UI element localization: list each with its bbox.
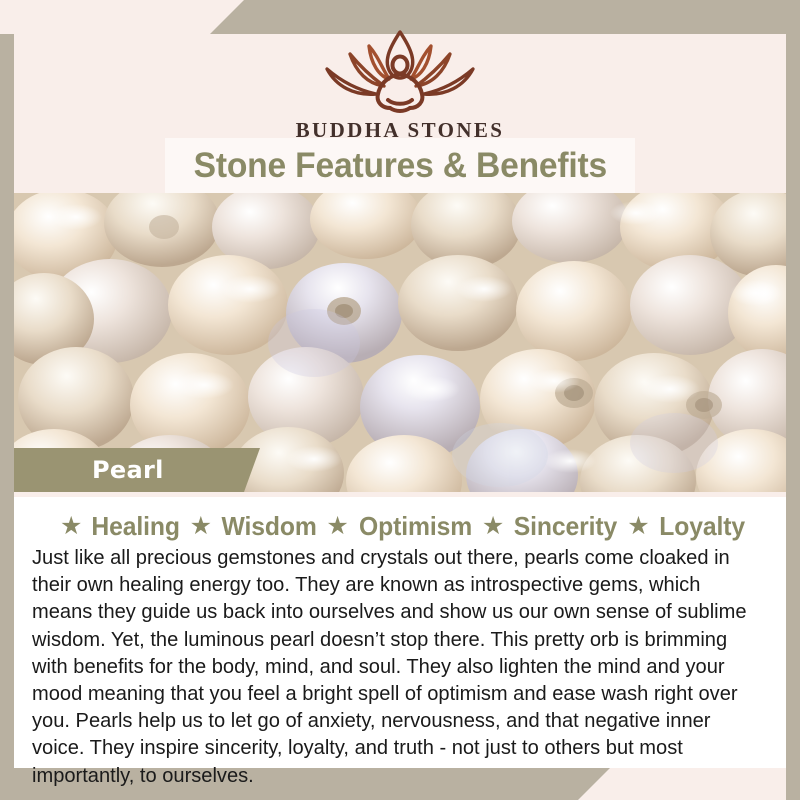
content-panel: ★ Healing ★ Wisdom ★ Optimism ★ Sincerit… — [14, 497, 786, 768]
keyword-list: ★ Healing ★ Wisdom ★ Optimism ★ Sincerit… — [14, 497, 786, 542]
star-icon: ★ — [190, 514, 212, 539]
keyword-healing: Healing — [92, 511, 181, 542]
keyword-wisdom: Wisdom — [222, 511, 317, 542]
lotus-meditation-logo-icon — [310, 24, 490, 116]
pearl-photo-illustration — [14, 193, 786, 492]
keyword-optimism: Optimism — [359, 511, 472, 542]
star-icon: ★ — [482, 514, 504, 539]
page-title: Stone Features & Benefits — [193, 146, 606, 186]
stone-name-tab: Pearl — [14, 448, 260, 492]
stone-name: Pearl — [92, 456, 164, 484]
star-icon: ★ — [627, 514, 649, 539]
poster-root: BUDDHA STONES Stone Features & Benefits — [0, 0, 800, 800]
star-icon: ★ — [60, 514, 82, 539]
stone-photo — [14, 193, 786, 492]
keyword-sincerity: Sincerity — [514, 511, 617, 542]
stone-description: Just like all precious gemstones and cry… — [32, 545, 757, 790]
star-icon: ★ — [326, 514, 348, 539]
keyword-loyalty: Loyalty — [659, 511, 745, 542]
title-banner: Stone Features & Benefits — [165, 138, 635, 193]
brand-logo: BUDDHA STONES — [0, 24, 800, 143]
frame-left-edge — [0, 34, 14, 800]
